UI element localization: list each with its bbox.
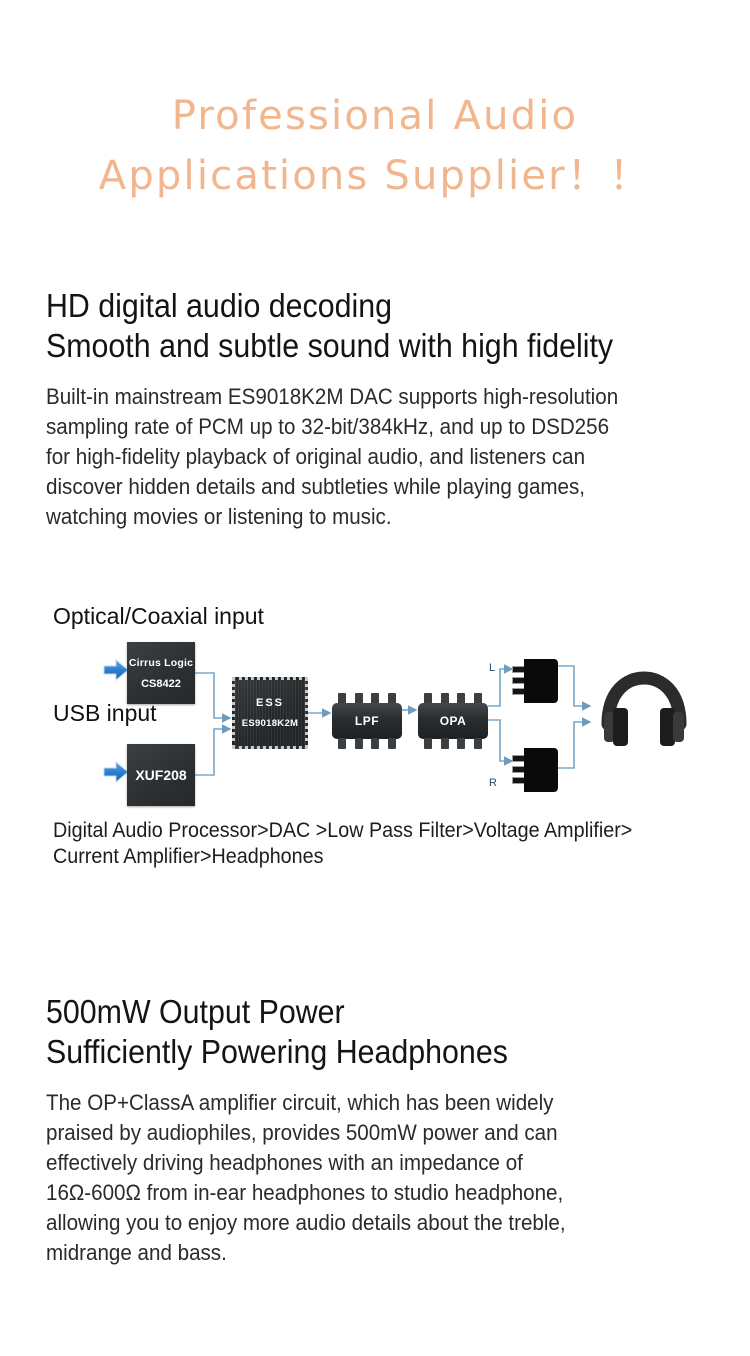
right-channel-label: R — [489, 777, 497, 789]
chip-ess-brand: ESS — [256, 697, 284, 709]
paragraph-line: allowing you to enjoy more audio details… — [46, 1208, 723, 1238]
section-heading-line-2: Smooth and subtle sound with high fideli… — [46, 326, 690, 366]
chip-cs8422-brand: Cirrus Logic — [129, 657, 193, 669]
chip-lpf: LPF — [332, 692, 402, 750]
section-heading-line-2: Sufficiently Powering Headphones — [46, 1032, 690, 1072]
chip-ess-body: ESS ES9018K2M — [232, 677, 308, 749]
hero-line-1: Professional Audio — [0, 86, 750, 146]
chip-xuf208: XUF208 — [127, 744, 195, 806]
chip-lpf-pins-bottom — [338, 738, 396, 749]
paragraph-line: midrange and bass. — [46, 1238, 723, 1268]
chip-opa-label: OPA — [418, 703, 488, 739]
paragraph-line: Built-in mainstream ES9018K2M DAC suppor… — [46, 382, 723, 412]
hero-line-2: Applications Supplier！！ — [0, 146, 750, 206]
paragraph-line: watching movies or listening to music. — [46, 502, 723, 532]
section-heading-line-1: HD digital audio decoding — [46, 286, 690, 326]
chip-opa-pins-bottom — [424, 738, 482, 749]
left-channel-label: L — [489, 662, 495, 674]
chip-cs8422-part: CS8422 — [141, 678, 181, 690]
chip-ess-es9018k2m: ESS ES9018K2M — [232, 677, 308, 749]
hero-heading: Professional Audio Applications Supplier… — [0, 86, 750, 206]
chip-ess-part: ES9018K2M — [242, 718, 299, 729]
caption-line: Current Amplifier>Headphones — [53, 844, 632, 870]
headphones-icon — [598, 666, 690, 750]
paragraph-line: discover hidden details and subtleties w… — [46, 472, 723, 502]
chip-xuf208-label: XUF208 — [135, 767, 186, 783]
chip-lpf-label: LPF — [332, 703, 402, 739]
chip-cs8422: Cirrus Logic CS8422 — [127, 642, 195, 704]
usb-input-arrow-icon — [104, 762, 128, 782]
optical-input-arrow-icon — [104, 660, 128, 680]
chip-opa: OPA — [418, 692, 488, 750]
paragraph-line: for high-fidelity playback of original a… — [46, 442, 723, 472]
section-hd-decoding: HD digital audio decoding Smooth and sub… — [46, 286, 746, 532]
output-transistor-left — [512, 659, 558, 703]
paragraph-line: 16Ω-600Ω from in-ear headphones to studi… — [46, 1178, 723, 1208]
caption-line: Digital Audio Processor>DAC >Low Pass Fi… — [53, 818, 632, 844]
section-heading-line-1: 500mW Output Power — [46, 992, 690, 1032]
paragraph-line: praised by audiophiles, provides 500mW p… — [46, 1118, 723, 1148]
transistor-left-body — [524, 659, 558, 703]
transistor-right-body — [524, 748, 558, 792]
paragraph-line: The OP+ClassA amplifier circuit, which h… — [46, 1088, 723, 1118]
section-paragraph: The OP+ClassA amplifier circuit, which h… — [46, 1088, 723, 1268]
paragraph-line: sampling rate of PCM up to 32-bit/384kHz… — [46, 412, 723, 442]
paragraph-line: effectively driving headphones with an i… — [46, 1148, 723, 1178]
diagram-caption: Digital Audio Processor>DAC >Low Pass Fi… — [53, 818, 632, 870]
output-transistor-right — [512, 748, 558, 792]
section-paragraph: Built-in mainstream ES9018K2M DAC suppor… — [46, 382, 723, 532]
section-output-power: 500mW Output Power Sufficiently Powering… — [46, 992, 746, 1268]
